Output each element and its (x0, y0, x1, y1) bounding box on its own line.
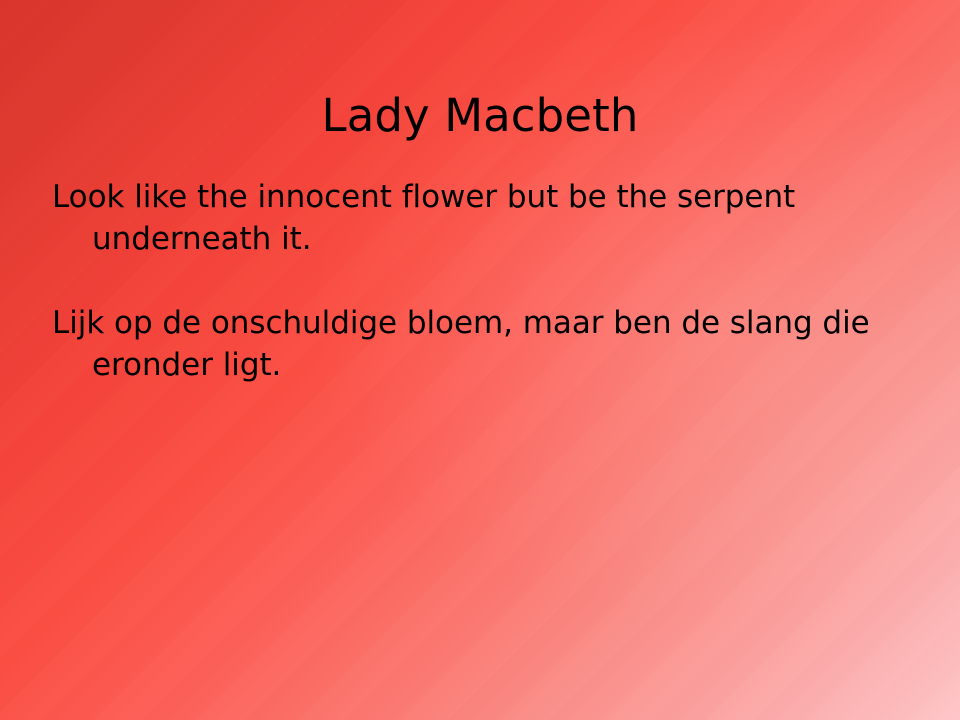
presentation-slide: Lady Macbeth Look like the innocent flow… (0, 0, 960, 720)
slide-body: Look like the innocent flower but be the… (52, 176, 918, 386)
paragraph-spacer (52, 260, 918, 302)
quote-english: Look like the innocent flower but be the… (52, 176, 918, 260)
quote-dutch: Lijk op de onschuldige bloem, maar ben d… (52, 302, 918, 386)
slide-title: Lady Macbeth (0, 92, 960, 139)
slide-content: Lady Macbeth Look like the innocent flow… (0, 0, 960, 720)
